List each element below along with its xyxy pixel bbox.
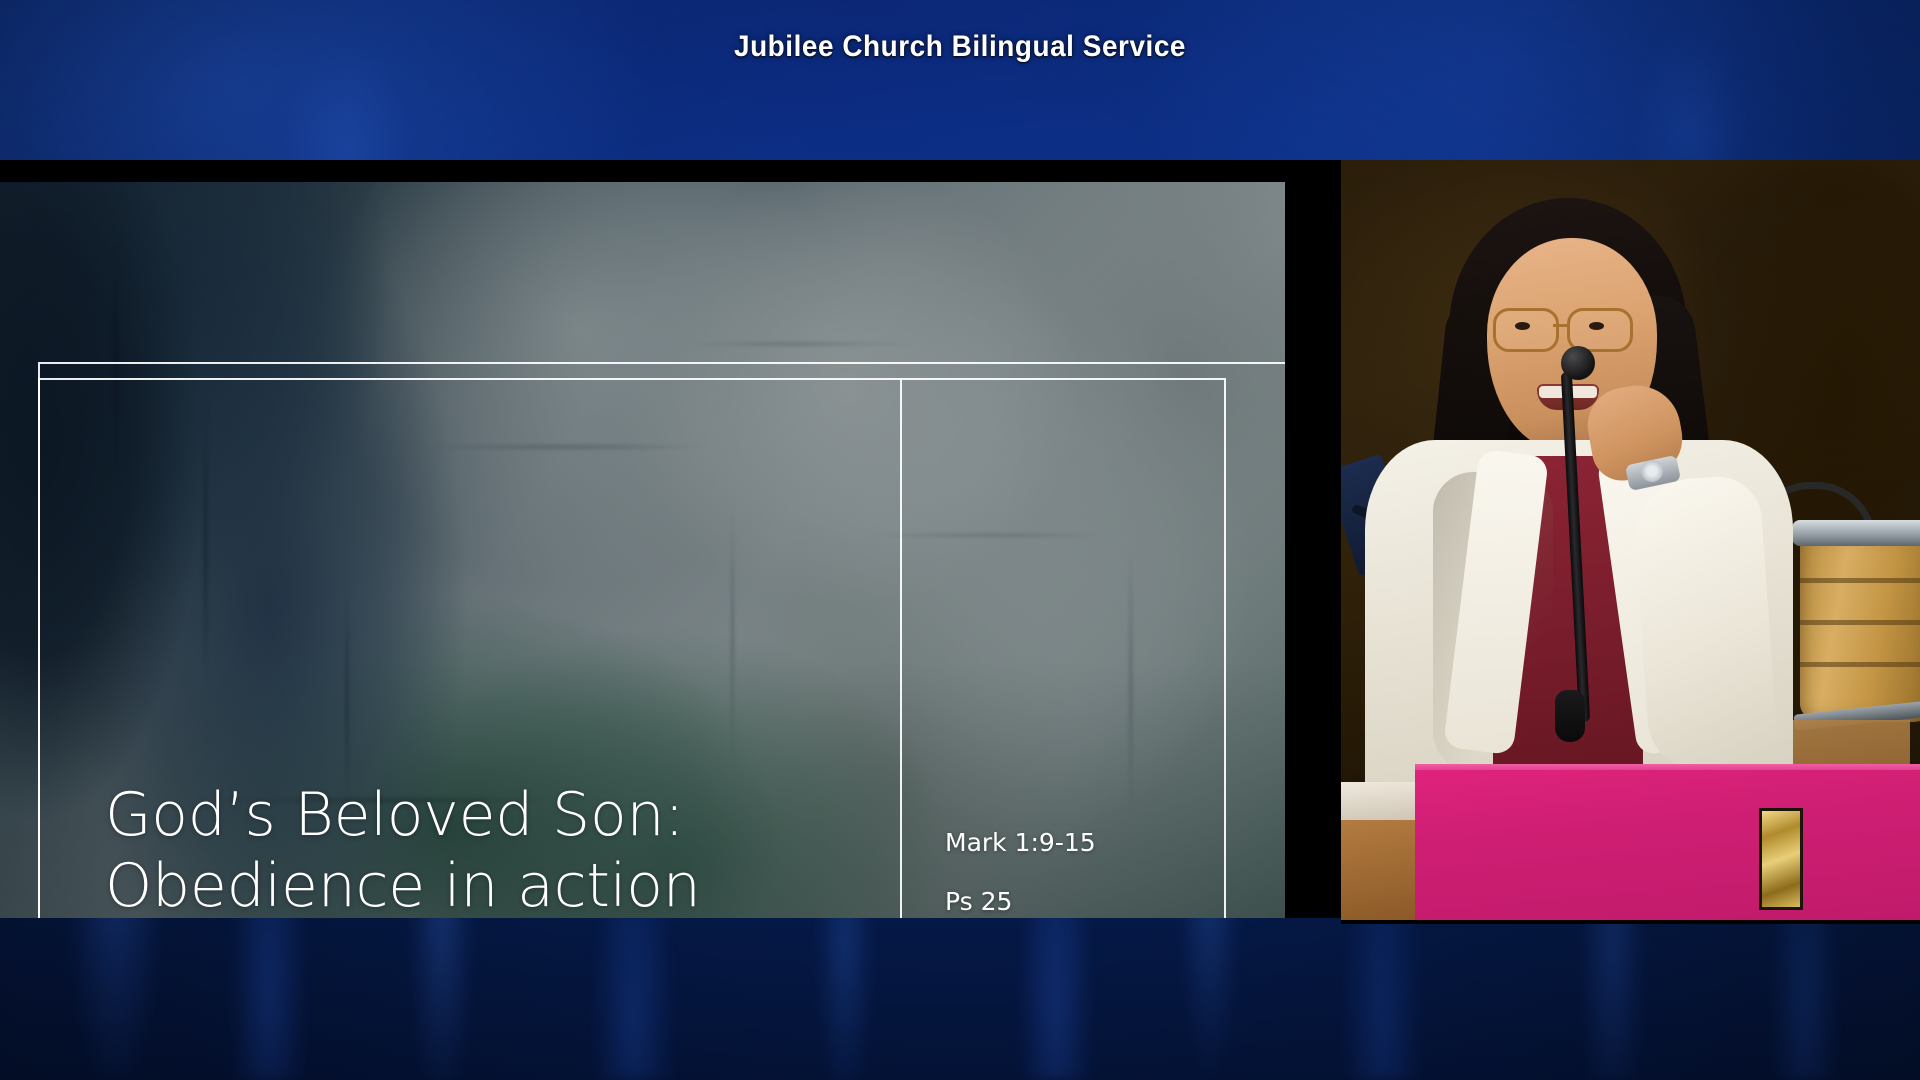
pulpit-gold-plaque [1759,808,1803,910]
speaker-right-arm [1631,474,1779,772]
broadcast-screen: Jubilee Church Bilingual Service God’s B… [0,0,1920,1080]
video-feed-letterbox [1341,920,1920,924]
eyeglasses-left-lens [1493,308,1559,352]
sermon-title: God’s Beloved Son: Obedience in action [105,780,885,918]
conga-drum-rim [1792,520,1920,546]
conga-drum-band [1800,620,1920,625]
presentation-slide: God’s Beloved Son: Obedience in action M… [0,182,1285,918]
speaker-eye-right [1589,322,1604,330]
header-banner: Jubilee Church Bilingual Service [0,0,1920,160]
service-title: Jubilee Church Bilingual Service [67,30,1853,64]
speaker-eye-left [1515,322,1530,330]
eyeglasses-bridge [1553,324,1567,327]
pulpit-wood-side [1341,820,1421,924]
conga-drum [1800,532,1920,722]
slide-video-gap [1285,320,1341,918]
conga-drum-band [1800,662,1920,667]
scripture-references: Mark 1:9-15 Ps 25 [945,830,1185,918]
conga-drum-band [1800,578,1920,583]
pulpit-cloth [1415,770,1920,924]
scripture-reference-secondary: Ps 25 [945,889,1185,914]
sermon-title-line-1: God’s Beloved Son: [105,780,885,851]
microphone-base [1555,690,1585,742]
microphone-head [1561,346,1595,380]
scripture-reference-primary: Mark 1:9-15 [945,830,1185,855]
pulpit-side-ledge [1341,782,1423,822]
sermon-title-line-2: Obedience in action [105,851,885,918]
speaker-video-feed [1341,160,1920,924]
